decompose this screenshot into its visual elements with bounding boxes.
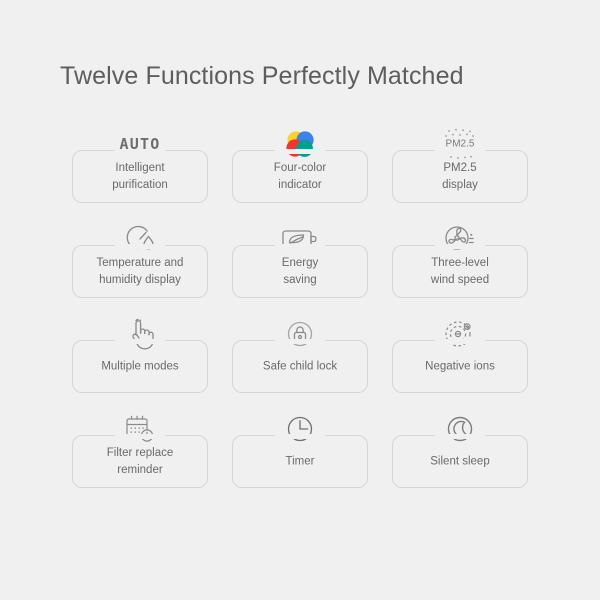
- feature-card: Timer: [232, 435, 368, 488]
- feature-label: Three-level wind speed: [394, 255, 526, 289]
- card-notch: [115, 244, 165, 249]
- feature-label: Multiple modes: [74, 358, 206, 375]
- card-notch: [275, 244, 325, 249]
- feature-grid-page: Twelve Functions Perfectly Matched AUTO …: [0, 0, 600, 600]
- feature-card: Negative ions: [392, 340, 528, 393]
- feature-card: Multiple modes: [72, 340, 208, 393]
- feature-label: Temperature and humidity display: [74, 255, 206, 289]
- feature-item-intelligent-purification[interactable]: AUTO Intelligent purification: [60, 118, 220, 213]
- feature-item-filter-reminder[interactable]: Filter replace reminder: [60, 403, 220, 498]
- feature-card: Energy saving: [232, 245, 368, 298]
- feature-item-timer[interactable]: Timer: [220, 403, 380, 498]
- feature-label: Safe child lock: [234, 358, 366, 375]
- card-notch: [275, 149, 325, 154]
- feature-label: Filter replace reminder: [74, 445, 206, 479]
- feature-item-four-color-indicator[interactable]: Four-color indicator: [220, 118, 380, 213]
- feature-card: Filter replace reminder: [72, 435, 208, 488]
- feature-grid: AUTO Intelligent purification Four-color…: [60, 118, 540, 498]
- feature-item-multiple-modes[interactable]: Multiple modes: [60, 308, 220, 403]
- feature-label: Four-color indicator: [234, 160, 366, 194]
- feature-label: Negative ions: [394, 358, 526, 375]
- feature-item-negative-ions[interactable]: Negative ions: [380, 308, 540, 403]
- card-notch: [115, 434, 165, 439]
- card-notch: [275, 434, 325, 439]
- card-notch: [435, 339, 485, 344]
- card-notch: [115, 339, 165, 344]
- card-notch: [435, 244, 485, 249]
- feature-label: Intelligent purification: [74, 160, 206, 194]
- feature-card: Four-color indicator: [232, 150, 368, 203]
- card-notch: [435, 434, 485, 439]
- card-notch: [435, 149, 485, 154]
- feature-card: Safe child lock: [232, 340, 368, 393]
- feature-card: PM2.5 display: [392, 150, 528, 203]
- feature-label: Silent sleep: [394, 453, 526, 470]
- feature-item-wind-speed[interactable]: Three-level wind speed: [380, 213, 540, 308]
- page-title: Twelve Functions Perfectly Matched: [60, 62, 464, 91]
- feature-item-silent-sleep[interactable]: Silent sleep: [380, 403, 540, 498]
- feature-card: Three-level wind speed: [392, 245, 528, 298]
- feature-label: Energy saving: [234, 255, 366, 289]
- feature-item-energy-saving[interactable]: Energy saving: [220, 213, 380, 308]
- card-notch: [115, 149, 165, 154]
- feature-card: Temperature and humidity display: [72, 245, 208, 298]
- feature-item-temperature-humidity[interactable]: Temperature and humidity display: [60, 213, 220, 308]
- feature-label: PM2.5 display: [394, 160, 526, 194]
- pm25-icon-label: PM2.5: [446, 139, 475, 150]
- feature-card: Silent sleep: [392, 435, 528, 488]
- feature-item-child-lock[interactable]: Safe child lock: [220, 308, 380, 403]
- feature-item-pm25-display[interactable]: PM2.5 PM2.5 display: [380, 118, 540, 213]
- feature-card: Intelligent purification: [72, 150, 208, 203]
- card-notch: [275, 339, 325, 344]
- feature-label: Timer: [234, 453, 366, 470]
